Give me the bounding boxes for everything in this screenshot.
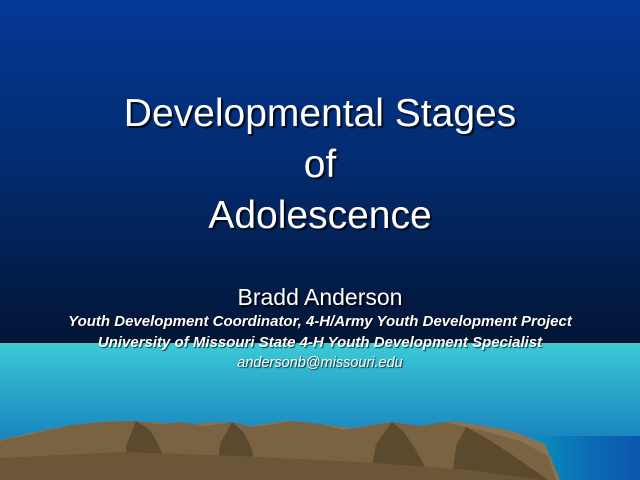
presenter-role: Youth Development Coordinator, 4-H/Army …	[0, 311, 640, 332]
title-line-3: Adolescence	[0, 190, 640, 241]
credits-block: Bradd Anderson Youth Development Coordin…	[0, 283, 640, 374]
presentation-slide: Developmental Stages of Adolescence Brad…	[0, 0, 640, 480]
presenter-name: Bradd Anderson	[0, 283, 640, 311]
title-line-1: Developmental Stages	[0, 88, 640, 139]
title-line-2: of	[0, 139, 640, 190]
presenter-email: andersonb@missouri.edu	[0, 353, 640, 374]
page-title: Developmental Stages of Adolescence	[0, 88, 640, 241]
presenter-affiliation: University of Missouri State 4-H Youth D…	[0, 332, 640, 353]
mountain-range-graphic	[0, 400, 640, 480]
